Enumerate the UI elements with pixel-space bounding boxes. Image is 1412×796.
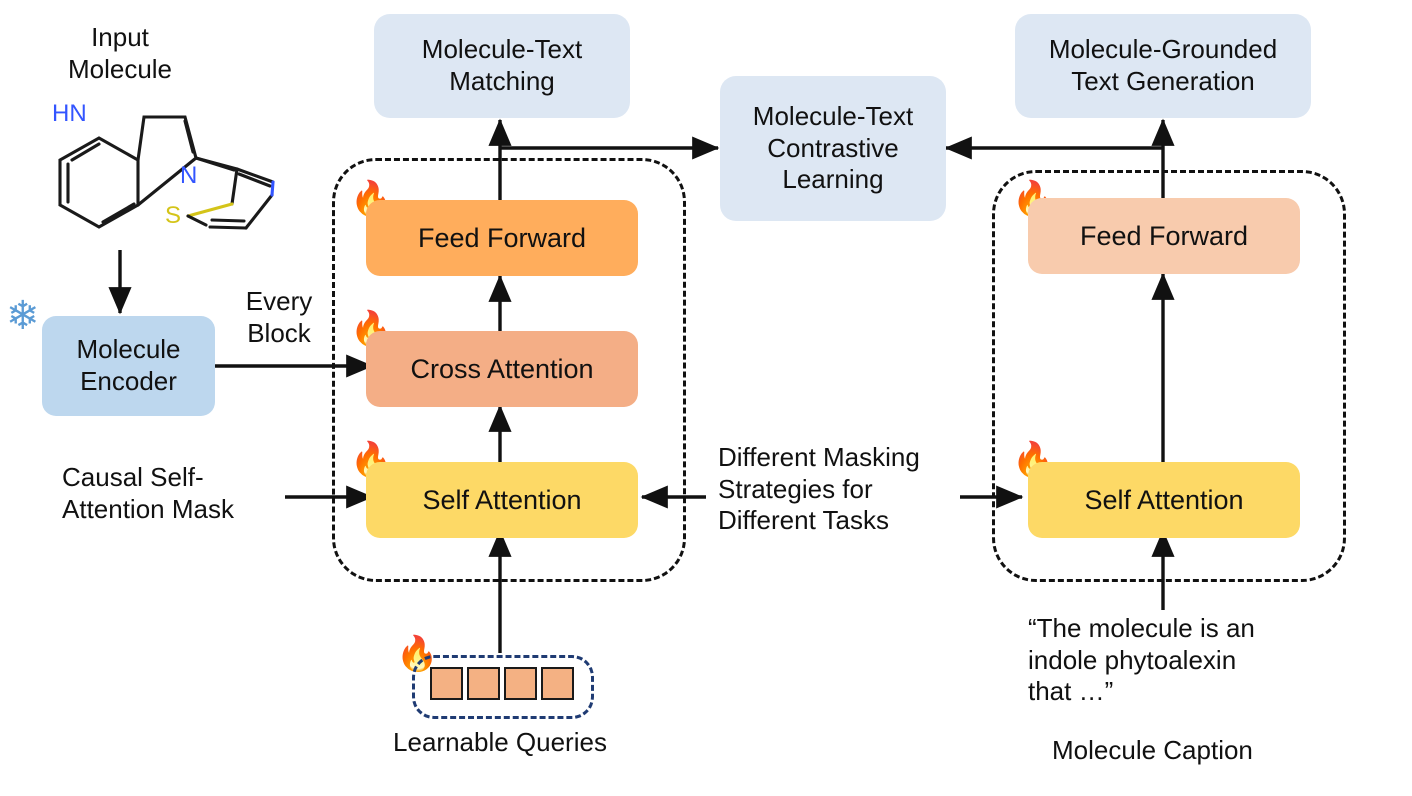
molecule-atom-label-hn: HN	[52, 100, 87, 128]
molecule-caption-label: Molecule Caption	[1052, 735, 1352, 767]
molecule-encoder-box[interactable]: Molecule Encoder	[42, 316, 215, 416]
learnable-query-cell[interactable]	[504, 667, 537, 700]
masking-strategies-note: Different Masking Strategies for Differe…	[718, 442, 963, 537]
molecule-text-matching-box[interactable]: Molecule-Text Matching	[374, 14, 630, 118]
center-feed-forward-block[interactable]: Feed Forward	[366, 200, 638, 276]
diagram-canvas: Input Molecule HN N S ❄ Molecule Encoder…	[0, 0, 1412, 796]
input-molecule-title: Input Molecule	[20, 22, 220, 85]
right-feed-forward-block[interactable]: Feed Forward	[1028, 198, 1300, 274]
center-self-attention-block[interactable]: Self Attention	[366, 462, 638, 538]
center-cross-attention-block[interactable]: Cross Attention	[366, 331, 638, 407]
snowflake-icon: ❄	[6, 296, 40, 336]
learnable-queries-caption: Learnable Queries	[370, 727, 630, 759]
molecule-text-contrastive-learning-box[interactable]: Molecule-Text Contrastive Learning	[720, 76, 946, 221]
molecule-grounded-text-generation-box[interactable]: Molecule-Grounded Text Generation	[1015, 14, 1311, 118]
every-block-label: Every Block	[218, 286, 340, 349]
input-molecule-thiazole	[196, 158, 234, 170]
learnable-query-cell[interactable]	[430, 667, 463, 700]
learnable-query-cell[interactable]	[541, 667, 574, 700]
molecule-atom-label-n: N	[180, 162, 197, 190]
causal-mask-label: Causal Self- Attention Mask	[62, 462, 294, 525]
molecule-caption-text: “The molecule is an indole phytoalexin t…	[1028, 613, 1328, 708]
learnable-query-cell[interactable]	[467, 667, 500, 700]
right-self-attention-block[interactable]: Self Attention	[1028, 462, 1300, 538]
molecule-atom-label-s: S	[165, 202, 181, 230]
